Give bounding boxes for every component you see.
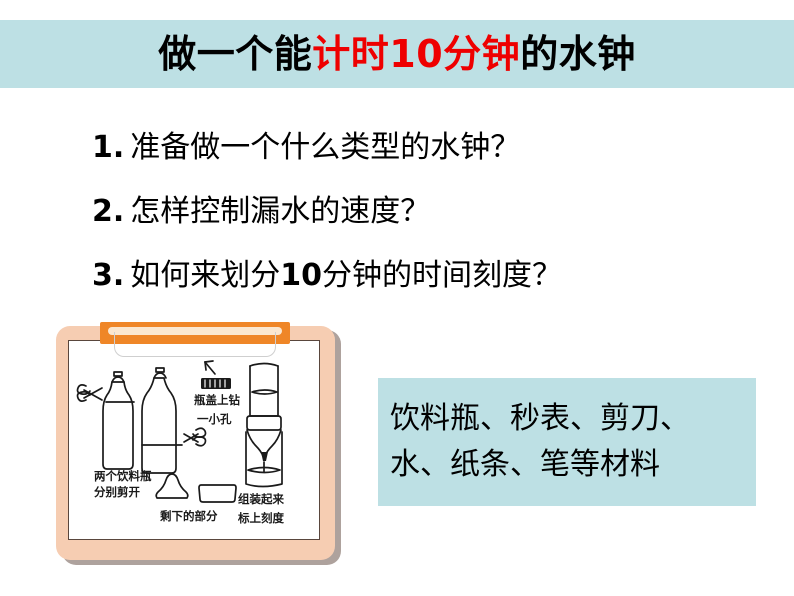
question-list: 1. 准备做一个什么类型的水钟？ 2. 怎样控制漏水的速度？ 3. 如何来划分1… [92, 122, 712, 314]
list-item-text: 怎样控制漏水的速度？ [130, 186, 430, 230]
sketch-label-left-line1: 两个饮料瓶 [94, 469, 152, 483]
sketch-label-left-line2: 分别剪开 [94, 485, 140, 499]
title-suffix: 的水钟 [520, 32, 636, 76]
list-item-text: 准备做一个什么类型的水钟？ [130, 122, 520, 166]
sketch-label-remainder: 剩下的部分 [160, 509, 218, 523]
clipboard-illustration: 两个饮料瓶 分别剪开 瓶盖上钻 一小孔 剩下的部分 组装起来 标上刻度 [56, 322, 341, 565]
materials-line-1: 饮料瓶、秒表、剪刀、 [390, 396, 744, 443]
list-item-text-part: 分钟的时间刻度？ [322, 258, 562, 293]
list-item: 3. 如何来划分10分钟的时间刻度？ [92, 250, 712, 294]
sketch-label-cap-line1: 瓶盖上钻 [194, 393, 240, 407]
water-clock-sketch-icon: 两个饮料瓶 分别剪开 瓶盖上钻 一小孔 剩下的部分 组装起来 标上刻度 [68, 340, 320, 540]
list-item: 2. 怎样控制漏水的速度？ [92, 186, 712, 230]
list-item-text: 如何来划分10分钟的时间刻度？ [130, 250, 562, 294]
list-item-number: 1. [92, 130, 124, 165]
list-item-text-emphasis: 10 [280, 258, 322, 293]
list-item-number: 3. [92, 258, 124, 293]
list-item-text-part: 如何来划分 [130, 258, 280, 293]
page-title: 做一个能计时10分钟的水钟 [158, 35, 635, 73]
sketch-label-cap-line2: 一小孔 [197, 412, 232, 426]
sketch-label-assemble-line1: 组装起来 [238, 492, 284, 506]
sketch-label-assemble-line2: 标上刻度 [237, 511, 284, 525]
title-prefix: 做一个能 [158, 32, 312, 76]
list-item: 1. 准备做一个什么类型的水钟？ [92, 122, 712, 166]
list-item-number: 2. [92, 194, 124, 229]
clipboard-clip-wire [114, 332, 276, 357]
materials-box: 饮料瓶、秒表、剪刀、 水、纸条、笔等材料 [378, 378, 756, 506]
materials-line-2: 水、纸条、笔等材料 [390, 442, 744, 489]
slide-title-band: 做一个能计时10分钟的水钟 [0, 20, 794, 88]
title-highlight: 计时10分钟 [312, 32, 520, 76]
